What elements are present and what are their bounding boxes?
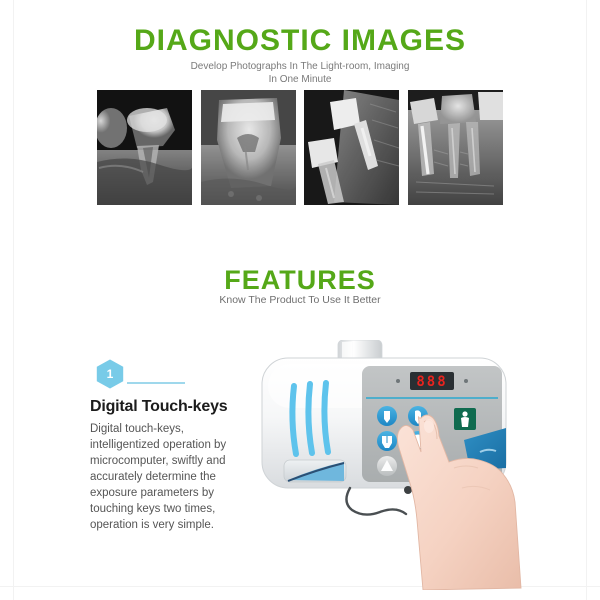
xray-thumb-2[interactable] xyxy=(201,90,296,205)
xray-thumb-4[interactable] xyxy=(408,90,503,205)
diagnostic-subtitle-line-1: Develop Photographs In The Light-room, I… xyxy=(0,60,600,73)
diagnostic-subtitle-line-2: In One Minute xyxy=(0,73,600,86)
key-premolar[interactable] xyxy=(377,431,397,451)
diagnostic-images-subtitle: Develop Photographs In The Light-room, I… xyxy=(0,60,600,86)
diagnostic-images-title: DIAGNOSTIC IMAGES xyxy=(0,24,600,58)
key-increase[interactable] xyxy=(377,456,397,476)
xray-thumb-1[interactable] xyxy=(97,90,192,205)
features-subtitle: Know The Product To Use It Better xyxy=(0,294,600,306)
led-display-value: 888 xyxy=(416,374,447,390)
feature-body-text: Digital touch-keys, intelligentized oper… xyxy=(90,421,252,533)
key-incisor[interactable] xyxy=(377,406,397,426)
xray-thumb-3[interactable] xyxy=(304,90,399,205)
cassette-slot xyxy=(284,460,346,482)
xray-thumbnail-strip xyxy=(97,90,503,205)
feature-heading: Digital Touch-keys xyxy=(90,398,280,416)
features-title: FEATURES xyxy=(0,265,600,296)
product-detail-page: DIAGNOSTIC IMAGES Develop Photographs In… xyxy=(0,0,600,600)
badge-rule xyxy=(127,382,185,384)
feature-number: 1 xyxy=(93,357,127,391)
power-cable xyxy=(346,488,406,515)
patient-adult-icon xyxy=(454,408,476,430)
device-photo: 888 xyxy=(258,340,526,590)
feature-badge: 1 xyxy=(93,357,253,391)
